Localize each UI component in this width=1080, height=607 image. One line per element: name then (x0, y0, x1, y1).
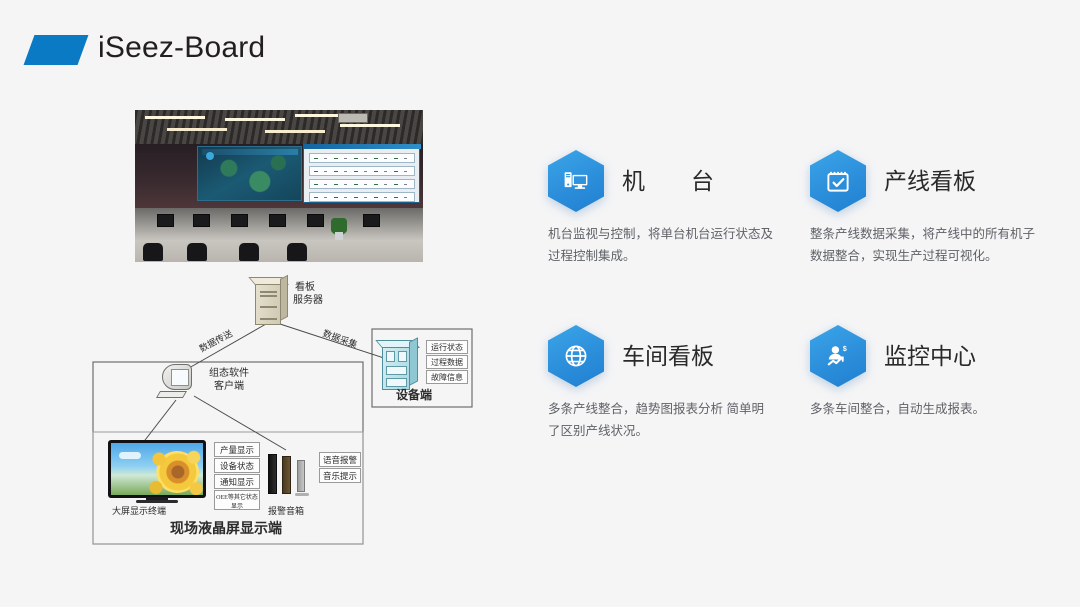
slide-header: iSeez-Board (0, 0, 1080, 100)
photo-monitor (193, 214, 210, 227)
hex-badge (810, 150, 868, 212)
photo-screen-row (309, 179, 415, 189)
tv-caption: 大屏显示终端 (112, 506, 166, 517)
crt-keyboard (156, 391, 187, 398)
photo-chair (287, 243, 307, 261)
server-slot (260, 306, 277, 308)
server-label-line1: 看板 (295, 282, 315, 294)
feature-cards: 机 台 机台监视与控制，将单台机台运行状态及过程控制集成。 产线看板 (548, 150, 1058, 450)
photo-monitor (363, 214, 380, 227)
crt-screen (171, 369, 189, 386)
tv-cloud (119, 452, 141, 459)
card-title: 车间看板 (622, 337, 714, 371)
cabinet-side (409, 337, 418, 386)
speaker-right (297, 460, 305, 492)
feature-card-workshop-board[interactable]: 车间看板 多条产线整合，趋势图报表分析 简单明了区别产线状况。 (548, 325, 798, 443)
card-description: 机台监视与控制，将单台机台运行状态及过程控制集成。 (548, 224, 776, 268)
card-header: 产线看板 (810, 150, 1060, 212)
crt-workstation-icon (158, 364, 202, 402)
photo-desks (135, 208, 423, 262)
card-description: 整条产线数据采集，将产线中的所有机子数据整合，实现生产过程可视化。 (810, 224, 1038, 268)
cabinet-front (382, 346, 410, 390)
speaker-center (282, 456, 291, 494)
tv-sunflower (155, 451, 199, 493)
photo-screen-row (309, 153, 415, 163)
card-header: 机 台 (548, 150, 798, 212)
tv-base (136, 500, 178, 503)
speaker-tag: 语音报警 (319, 452, 361, 467)
device-tag: 故障信息 (426, 370, 468, 384)
tv-tag: 产量显示 (214, 442, 260, 457)
speaker-tag: 音乐提示 (319, 468, 361, 483)
photo-monitor (157, 214, 174, 227)
photo-plant (331, 218, 347, 240)
card-header: $ 监控中心 (810, 325, 1060, 387)
card-description: 多条车间整合，自动生成报表。 (810, 399, 1038, 421)
device-tag: 运行状态 (426, 340, 468, 354)
cabinet-panel (386, 366, 407, 375)
tv-picture-sunflower (111, 443, 203, 495)
hex-badge (548, 325, 606, 387)
feature-card-monitoring-center[interactable]: $ 监控中心 多条车间整合，自动生成报表。 (810, 325, 1060, 421)
photo-chair (187, 243, 207, 261)
hex-badge: $ (810, 325, 868, 387)
card-title: 监控中心 (884, 337, 976, 371)
photo-ceiling (135, 110, 423, 144)
architecture-diagram: 看板 服务器 数据传送 数据采集 组态软件 客户端 运行状态 过程数据 (90, 272, 500, 550)
photo-monitor (231, 214, 248, 227)
globe-icon (548, 325, 604, 387)
card-header: 车间看板 (548, 325, 798, 387)
page-title: iSeez-Board (98, 31, 265, 65)
client-label-line1: 组态软件 (209, 368, 249, 380)
server-slot (260, 318, 277, 320)
user-analytics-icon: $ (810, 325, 866, 387)
display-group-title: 现场液晶屏显示端 (170, 522, 282, 539)
server-side (280, 275, 288, 321)
server-slot (260, 295, 277, 297)
photo-monitor (307, 214, 324, 227)
tv-frame (108, 440, 206, 498)
tv-tag: 通知显示 (214, 474, 260, 489)
tv-tag: 设备状态 (214, 458, 260, 473)
photo-projector (338, 113, 368, 123)
slide-root: iSeez-Board (0, 0, 1080, 607)
desktop-computer-icon (548, 150, 604, 212)
control-room-photo (135, 110, 423, 262)
feature-card-machine[interactable]: 机 台 机台监视与控制，将单台机台运行状态及过程控制集成。 (548, 150, 798, 268)
server-label-line2: 服务器 (293, 295, 323, 307)
photo-screen-row (309, 166, 415, 176)
photo-chair (143, 243, 163, 261)
photo-videowall-map-screen (197, 146, 302, 201)
speaker-left (268, 454, 277, 494)
device-group-title: 设备端 (396, 388, 432, 402)
server-slot (260, 291, 277, 293)
cabinet-panel (386, 378, 407, 387)
speaker-caption: 报警音箱 (268, 506, 304, 517)
photo-monitor (269, 214, 286, 227)
calendar-check-icon (810, 150, 866, 212)
tv-tag: OEE等其它状态显示 (214, 490, 260, 510)
card-description: 多条产线整合，趋势图报表分析 简单明了区别产线状况。 (548, 399, 776, 443)
cabinet-panel (386, 351, 395, 362)
photo-videowall-diagram-screen (303, 141, 420, 203)
photo-chair (239, 243, 259, 261)
equipment-cabinet-icon (382, 340, 420, 390)
svg-text:$: $ (843, 346, 847, 353)
client-label-line2: 客户端 (214, 381, 244, 393)
card-title: 机 台 (622, 162, 714, 196)
flat-tv-icon (108, 440, 206, 504)
card-title: 产线看板 (884, 162, 976, 196)
photo-screen-row (309, 192, 415, 202)
cabinet-panel (398, 351, 407, 362)
server-body (255, 283, 281, 325)
speaker-pair-icon (268, 452, 312, 500)
hex-badge (548, 150, 606, 212)
device-tag: 过程数据 (426, 355, 468, 369)
server-tower-icon (255, 277, 289, 325)
crt-monitor (162, 364, 192, 390)
parallelogram-logo-icon (24, 35, 89, 65)
feature-card-production-line-board[interactable]: 产线看板 整条产线数据采集，将产线中的所有机子数据整合，实现生产过程可视化。 (810, 150, 1060, 268)
